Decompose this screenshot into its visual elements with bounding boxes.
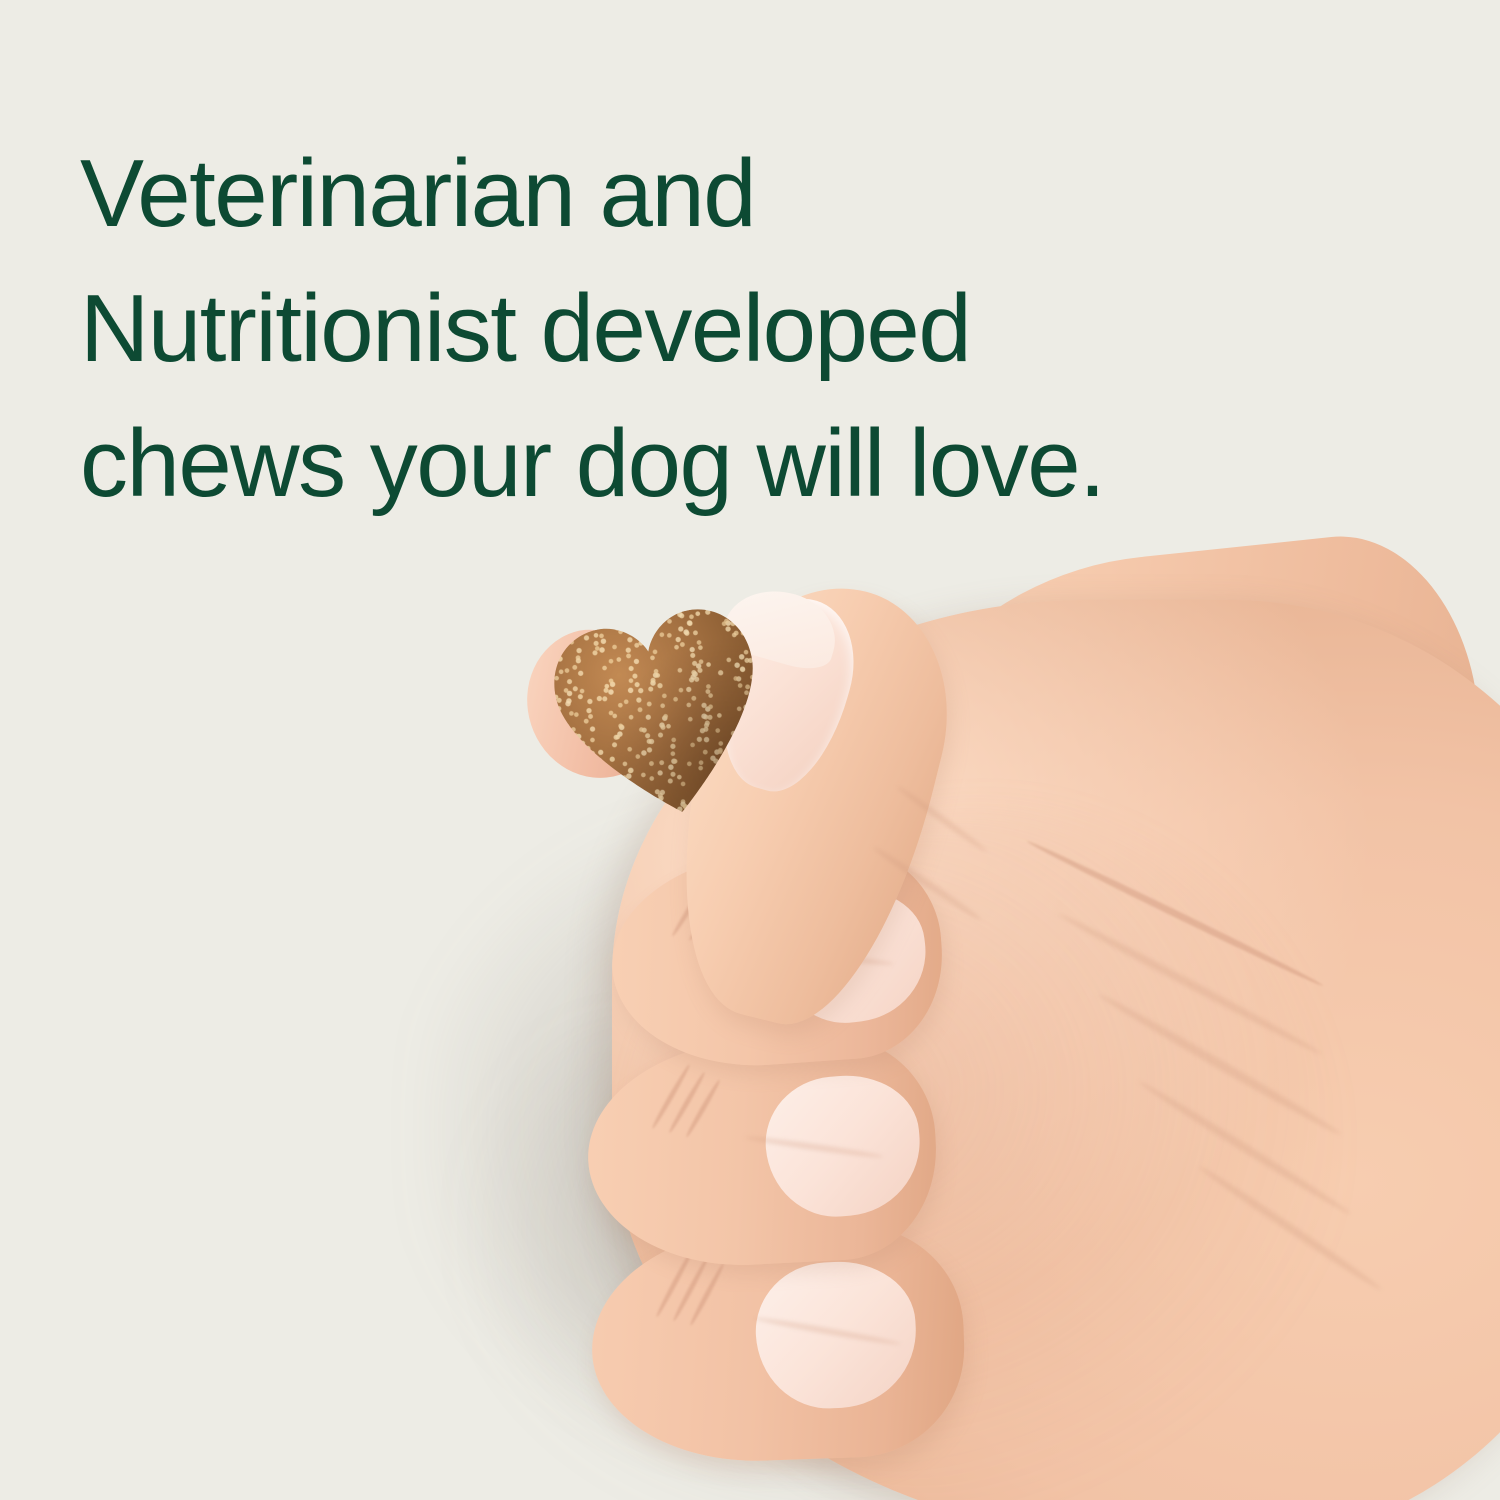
chew-silhouette <box>537 594 787 838</box>
chew-shading <box>537 594 787 838</box>
product-marketing-image: Veterinarian and Nutritionist developed … <box>0 0 1500 1500</box>
product-photo <box>0 480 1500 1500</box>
page-headline: Veterinarian and Nutritionist developed … <box>80 126 1340 531</box>
heart-shaped-chew <box>537 594 787 838</box>
headline-line-1: Veterinarian and <box>80 126 1340 261</box>
headline-line-2: Nutritionist developed <box>80 261 1340 396</box>
